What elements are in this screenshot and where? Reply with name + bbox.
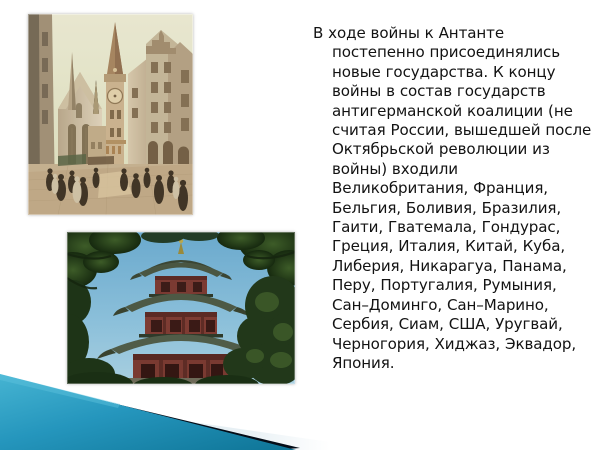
photo-chinese-pagoda <box>67 232 295 384</box>
photo-european-town-square <box>28 14 193 215</box>
body-text-block: В ходе войны к Антанте постепенно присое… <box>313 24 593 373</box>
presentation-slide: В ходе войны к Антанте постепенно присое… <box>0 0 600 450</box>
body-paragraph: В ходе войны к Антанте постепенно присое… <box>313 24 593 373</box>
